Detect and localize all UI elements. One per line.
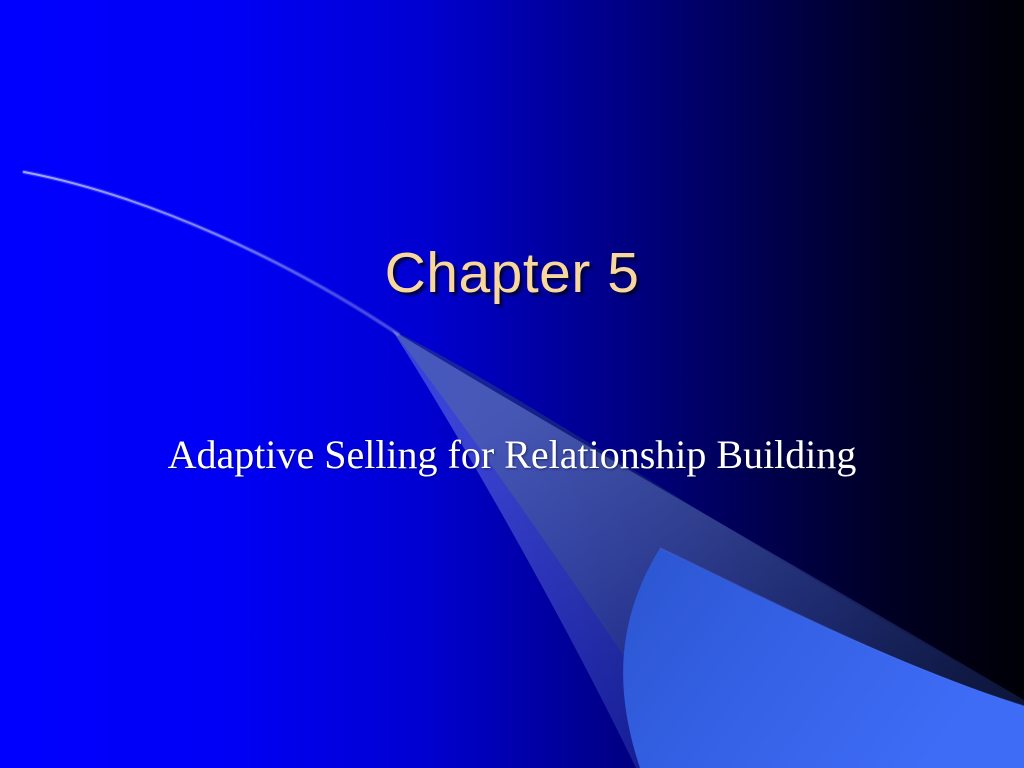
slide-subtitle: Adaptive Selling for Relationship Buildi… <box>168 432 857 478</box>
subtitle-placeholder[interactable]: Adaptive Selling for Relationship Buildi… <box>92 432 932 478</box>
page-title: Chapter 5 <box>385 243 640 305</box>
title-placeholder[interactable]: Chapter 5 <box>0 243 1024 305</box>
presentation-slide: Chapter 5 Adaptive Selling for Relations… <box>0 0 1024 768</box>
slide-content-layer: Chapter 5 Adaptive Selling for Relations… <box>0 0 1024 768</box>
